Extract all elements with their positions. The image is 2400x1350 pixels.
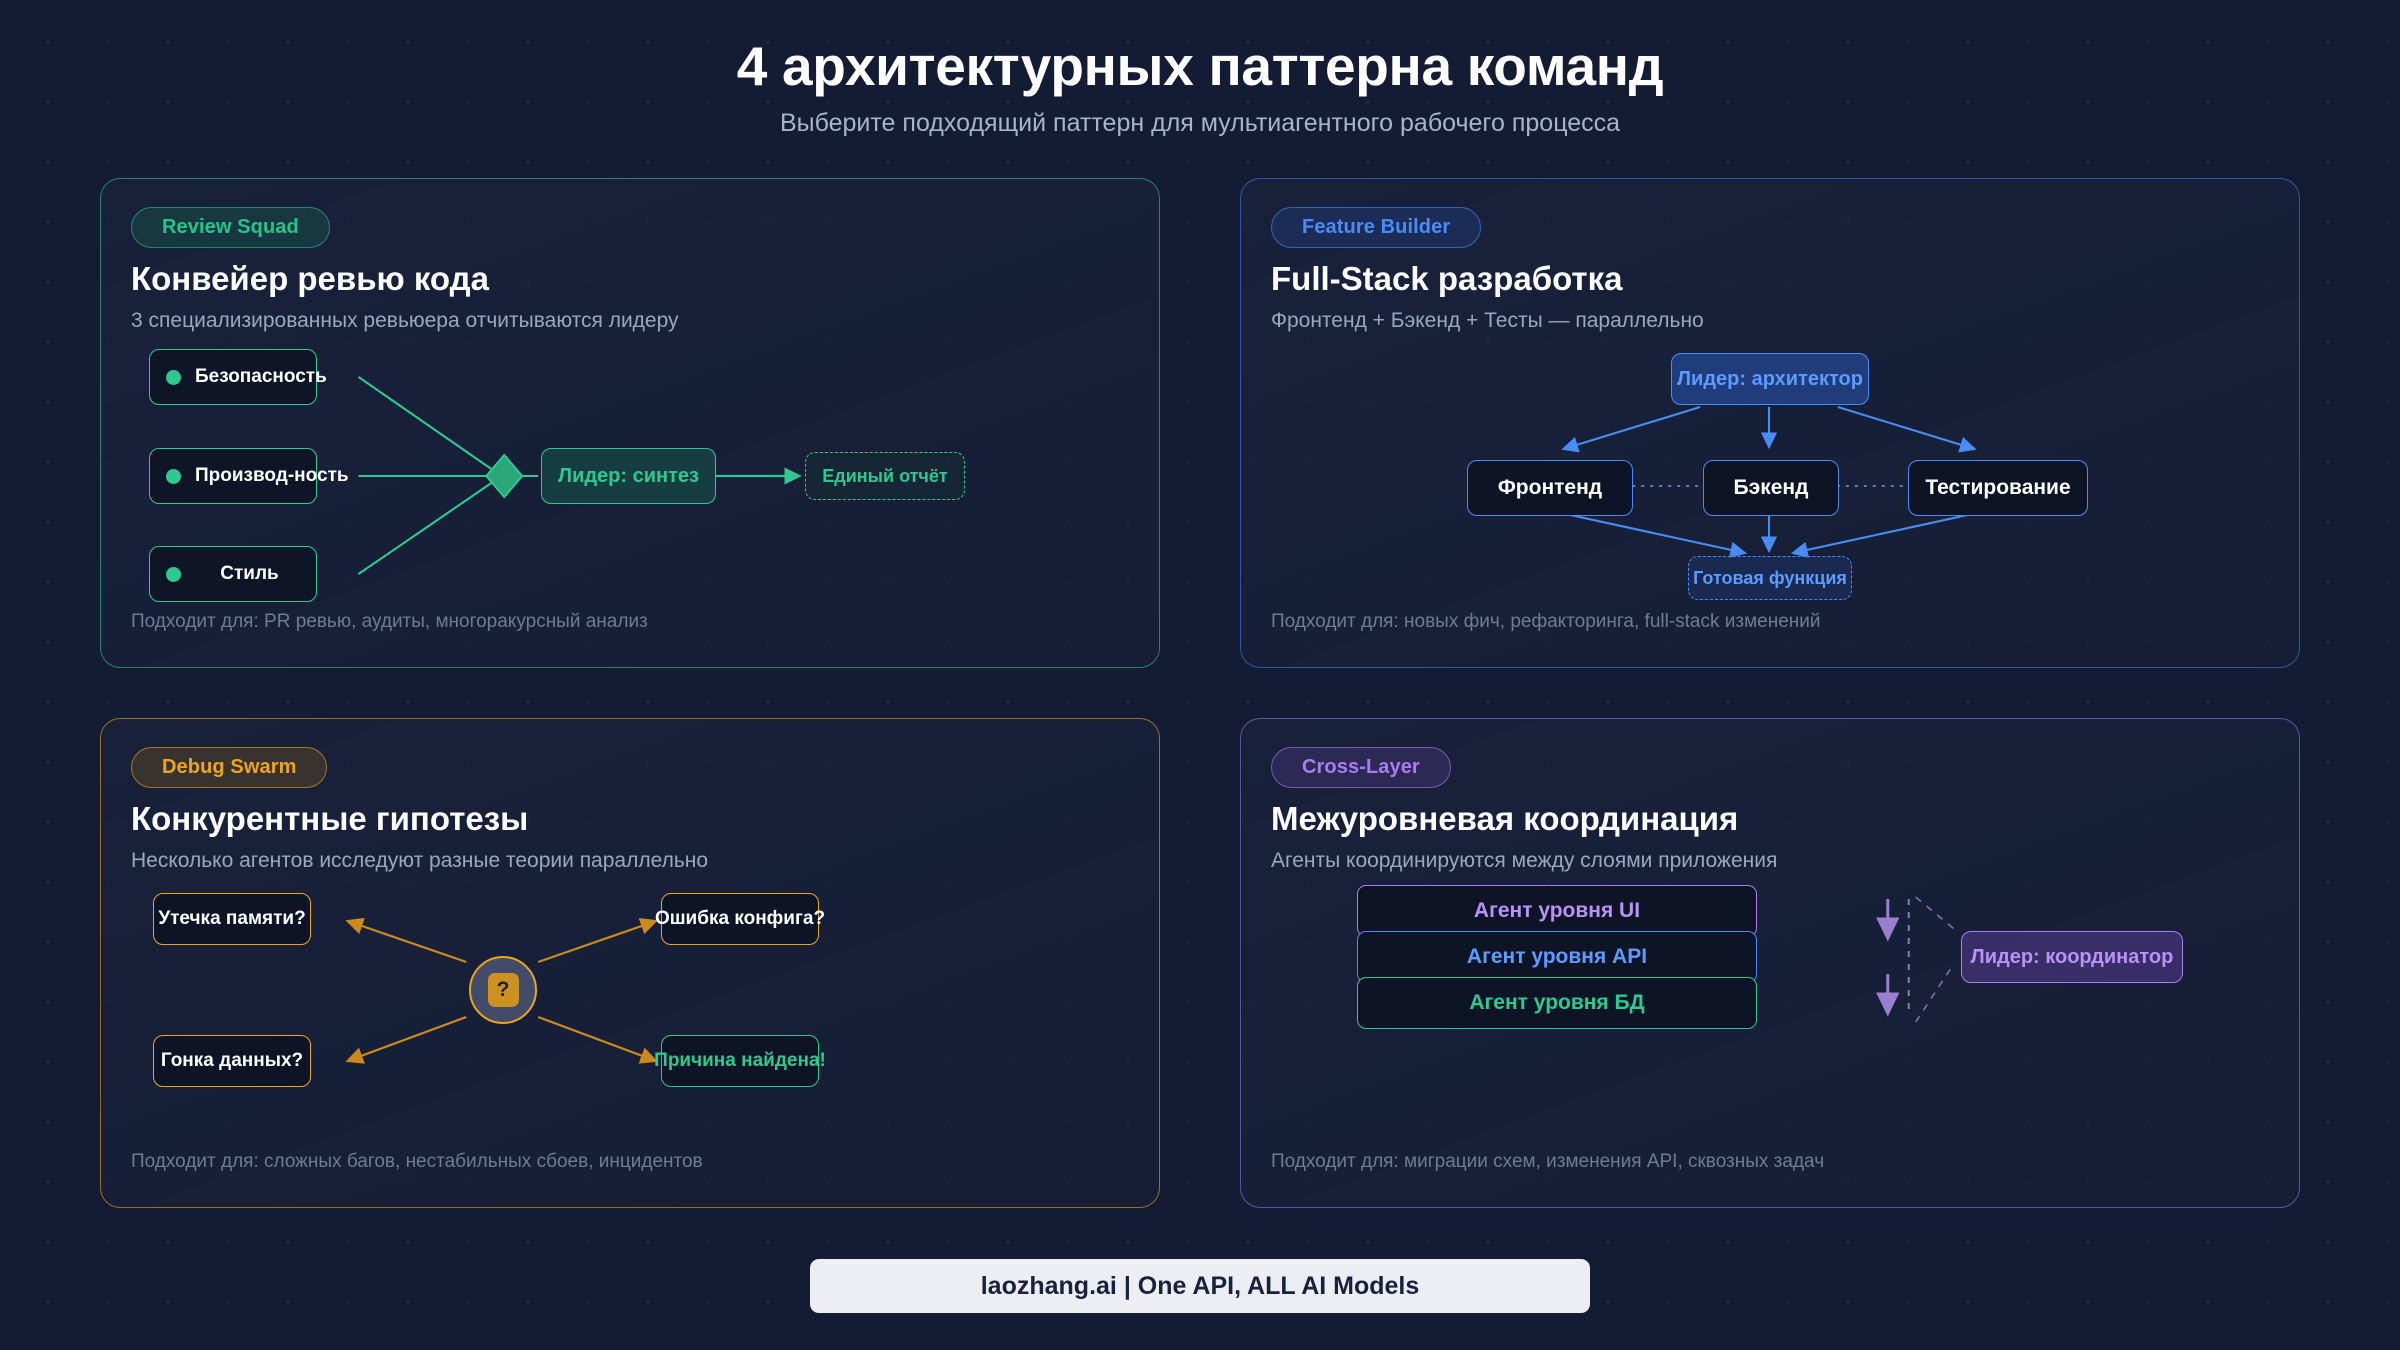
stack-node-testing[interactable]: Тестирование: [1908, 460, 2088, 516]
layer-node-api[interactable]: Агент уровня API: [1357, 931, 1757, 983]
status-dot-icon: [166, 567, 181, 582]
stack-node-backend[interactable]: Бэкенд: [1703, 460, 1839, 516]
hypothesis-node-cause-found[interactable]: Причина найдена!: [661, 1035, 819, 1087]
status-dot-icon: [166, 469, 181, 484]
page-title: 4 архитектурных паттерна команд: [0, 36, 2400, 98]
worker-label: Стиль: [195, 563, 316, 585]
card-hint-cross-layer: Подходит для: миграции схем, изменения A…: [1271, 1151, 1824, 1173]
output-node-report[interactable]: Единый отчёт: [805, 452, 965, 500]
pattern-card-feature-builder[interactable]: Feature Builder Full-Stack разработка Фр…: [1240, 178, 2300, 668]
page-header: 4 архитектурных паттерна команд Выберите…: [0, 0, 2400, 138]
hypothesis-node-config-error[interactable]: Ошибка конфига?: [661, 893, 819, 945]
leader-node-architect[interactable]: Лидер: архитектор: [1671, 353, 1869, 405]
footer-banner[interactable]: laozhang.ai | One API, ALL AI Models: [810, 1259, 1590, 1313]
pattern-card-review-squad[interactable]: Review Squad Конвейер ревью кода 3 специ…: [100, 178, 1160, 668]
stack-node-frontend[interactable]: Фронтенд: [1467, 460, 1633, 516]
pattern-card-debug-swarm[interactable]: Debug Swarm Конкурентные гипотезы Нескол…: [100, 718, 1160, 1208]
worker-label: Безопасность: [195, 366, 339, 388]
worker-node-security[interactable]: Безопасность: [149, 349, 317, 405]
card-title-cross-layer: Межуровневая координация: [1271, 800, 2269, 839]
diagram-cross-layer: Агент уровня UI Агент уровня API Агент у…: [1241, 869, 2299, 1159]
coordinator-node[interactable]: Лидер: координатор: [1961, 931, 2183, 983]
card-title-feature-builder: Full-Stack разработка: [1271, 260, 2269, 299]
card-title-review-squad: Конвейер ревью кода: [131, 260, 1129, 299]
card-badge-debug-swarm: Debug Swarm: [131, 747, 327, 788]
worker-node-performance[interactable]: Производ-ность: [149, 448, 317, 504]
page-subtitle: Выберите подходящий паттерн для мультиаг…: [0, 109, 2400, 138]
hypothesis-node-memory-leak[interactable]: Утечка памяти?: [153, 893, 311, 945]
pattern-card-cross-layer[interactable]: Cross-Layer Межуровневая координация Аге…: [1240, 718, 2300, 1208]
hypothesis-node-data-race[interactable]: Гонка данных?: [153, 1035, 311, 1087]
card-hint-feature-builder: Подходит для: новых фич, рефакторинга, f…: [1271, 611, 1821, 633]
layer-node-db[interactable]: Агент уровня БД: [1357, 977, 1757, 1029]
card-hint-review-squad: Подходит для: PR ревью, аудиты, многорак…: [131, 611, 648, 633]
diagram-review-squad: Безопасность Производ-ность Стиль Лидер:…: [101, 329, 1159, 619]
footer-label: laozhang.ai | One API, ALL AI Models: [981, 1272, 1420, 1301]
worker-label: Производ-ность: [195, 465, 361, 487]
card-badge-feature-builder: Feature Builder: [1271, 207, 1481, 248]
card-badge-review-squad: Review Squad: [131, 207, 330, 248]
leader-node-synthesis[interactable]: Лидер: синтез: [541, 448, 716, 504]
worker-node-style[interactable]: Стиль: [149, 546, 317, 602]
card-hint-debug-swarm: Подходит для: сложных багов, нестабильны…: [131, 1151, 703, 1173]
card-badge-cross-layer: Cross-Layer: [1271, 747, 1451, 788]
diagram-feature-builder: Лидер: архитектор Фронтенд Бэкенд Тестир…: [1241, 329, 2299, 619]
page-root: 4 архитектурных паттерна команд Выберите…: [0, 0, 2400, 1350]
diagram-debug-swarm: Утечка памяти? Ошибка конфига? Гонка дан…: [101, 869, 1159, 1159]
layer-node-ui[interactable]: Агент уровня UI: [1357, 885, 1757, 937]
output-node-feature[interactable]: Готовая функция: [1688, 556, 1852, 600]
question-mark-icon: ?: [488, 973, 519, 1007]
central-question-node[interactable]: ?: [469, 956, 537, 1024]
pattern-card-grid: Review Squad Конвейер ревью кода 3 специ…: [100, 178, 2300, 1208]
status-dot-icon: [166, 370, 181, 385]
card-title-debug-swarm: Конкурентные гипотезы: [131, 800, 1129, 839]
